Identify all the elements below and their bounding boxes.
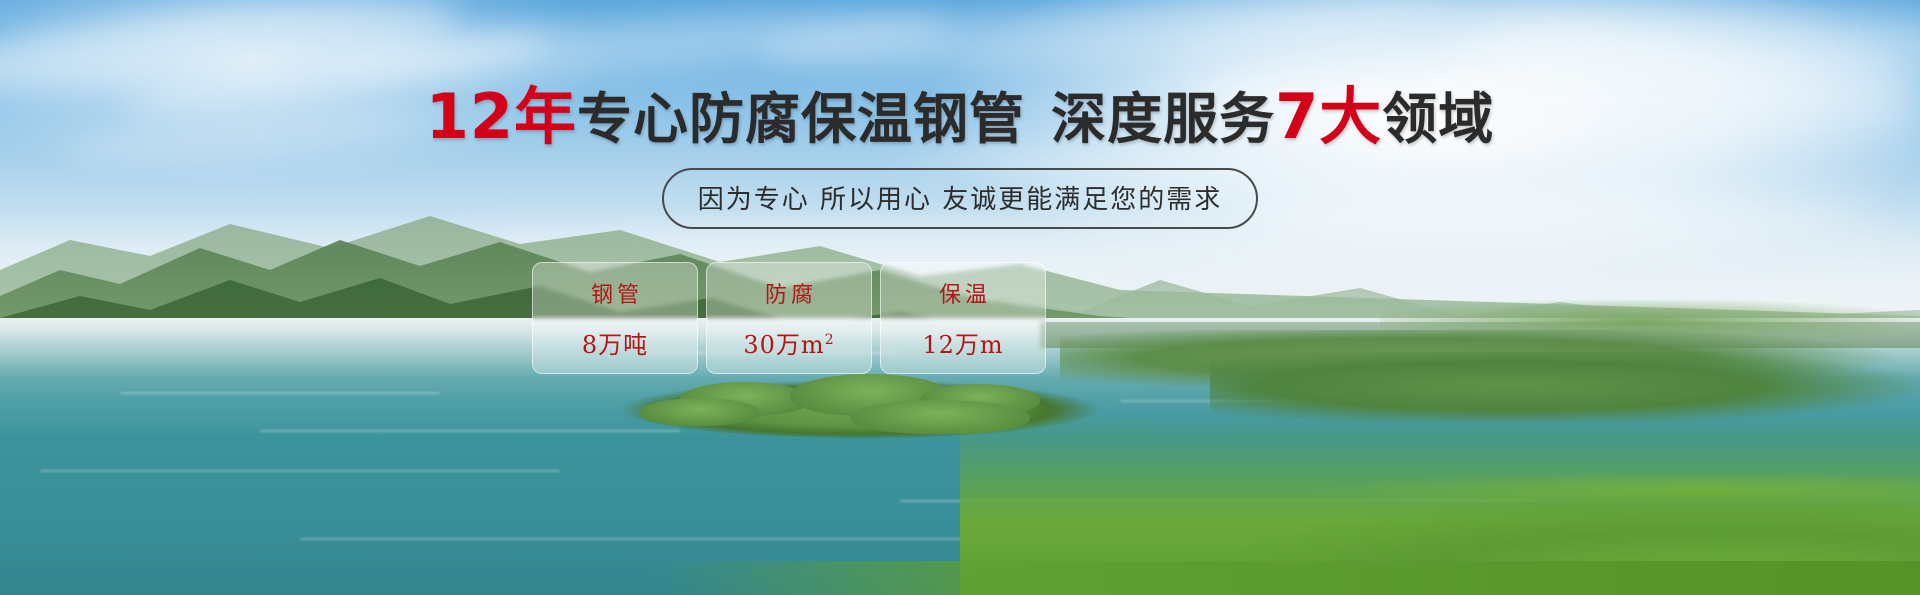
headline-service: 深度服务 [1051, 87, 1275, 151]
banner-content: 12年专心防腐保温钢管深度服务7大领域 因为专心 所以用心 友诚更能满足您的需求… [0, 0, 1920, 595]
stat-value-text: 12万m [922, 331, 1003, 359]
hero-banner: 12年专心防腐保温钢管深度服务7大领域 因为专心 所以用心 友诚更能满足您的需求… [0, 0, 1920, 595]
subtitle-pill: 因为专心 所以用心 友诚更能满足您的需求 [662, 168, 1259, 229]
stat-card-label: 防腐 [761, 277, 817, 309]
stat-card-label: 钢管 [587, 277, 643, 309]
stat-card-insulation: 保温 12万m [880, 262, 1046, 374]
stat-card-value: 30万m2 [743, 325, 834, 360]
stat-card-value: 8万吨 [582, 325, 648, 360]
stat-card-value: 12万m [922, 325, 1003, 360]
stat-value-text: 30万m [743, 331, 824, 359]
headline: 12年专心防腐保温钢管深度服务7大领域 [0, 84, 1920, 152]
stat-card-label: 保温 [935, 277, 991, 309]
headline-main: 专心防腐保温钢管 [577, 87, 1025, 151]
stat-cards: 钢管 8万吨 防腐 30万m2 保温 12万m [532, 262, 1046, 374]
subtitle-wrapper: 因为专心 所以用心 友诚更能满足您的需求 [0, 168, 1920, 229]
headline-years: 12年 [426, 80, 577, 153]
headline-seven: 7大 [1275, 80, 1382, 153]
stat-value-sup: 2 [825, 332, 835, 348]
stat-value-text: 8万吨 [582, 331, 648, 359]
stat-card-anticorrosion: 防腐 30万m2 [706, 262, 872, 374]
stat-card-steel-pipe: 钢管 8万吨 [532, 262, 698, 374]
headline-fields: 领域 [1382, 87, 1494, 151]
